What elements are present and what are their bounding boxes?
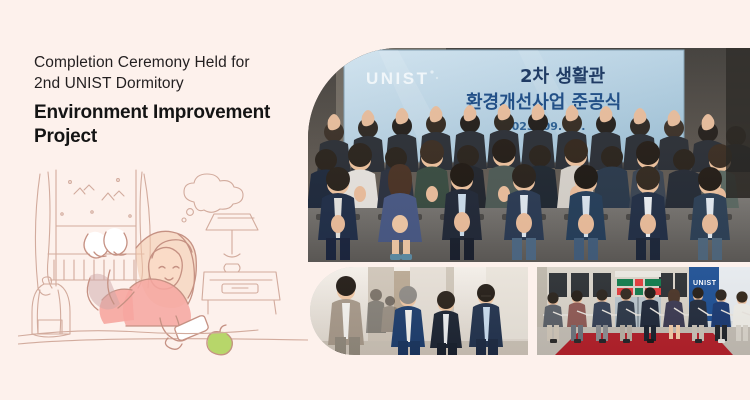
page-title: Environment Improvement Project [34,101,314,149]
facility-tour-photo [310,267,528,355]
ribbon-cutting-photo: UNIST [537,267,750,355]
nightstand-and-lamp-illustration [202,214,280,314]
poster-canvas: Completion Ceremony Held for 2nd UNIST D… [0,0,750,400]
unist-logo-on-screen: UNIST [366,69,438,88]
svg-text:UNIST: UNIST [693,280,717,287]
apple-illustration [207,325,233,355]
eyebrow-text: Completion Ceremony Held for 2nd UNIST D… [34,52,314,94]
group-photo-completion-ceremony: UNIST 2차 생활관 환경개선사업 준공식 2023. 09. 05. [308,48,750,262]
thought-bubble-illustration [182,174,243,222]
ribbon-cutting-participants [543,287,750,343]
svg-text:UNIST: UNIST [366,69,430,88]
student-illustration: .ln{fill:none;stroke:#d2ab9d;stroke-widt… [18,168,308,368]
headline-block: Completion Ceremony Held for 2nd UNIST D… [34,52,314,149]
svg-text:2차 생활관: 2차 생활관 [520,66,605,87]
